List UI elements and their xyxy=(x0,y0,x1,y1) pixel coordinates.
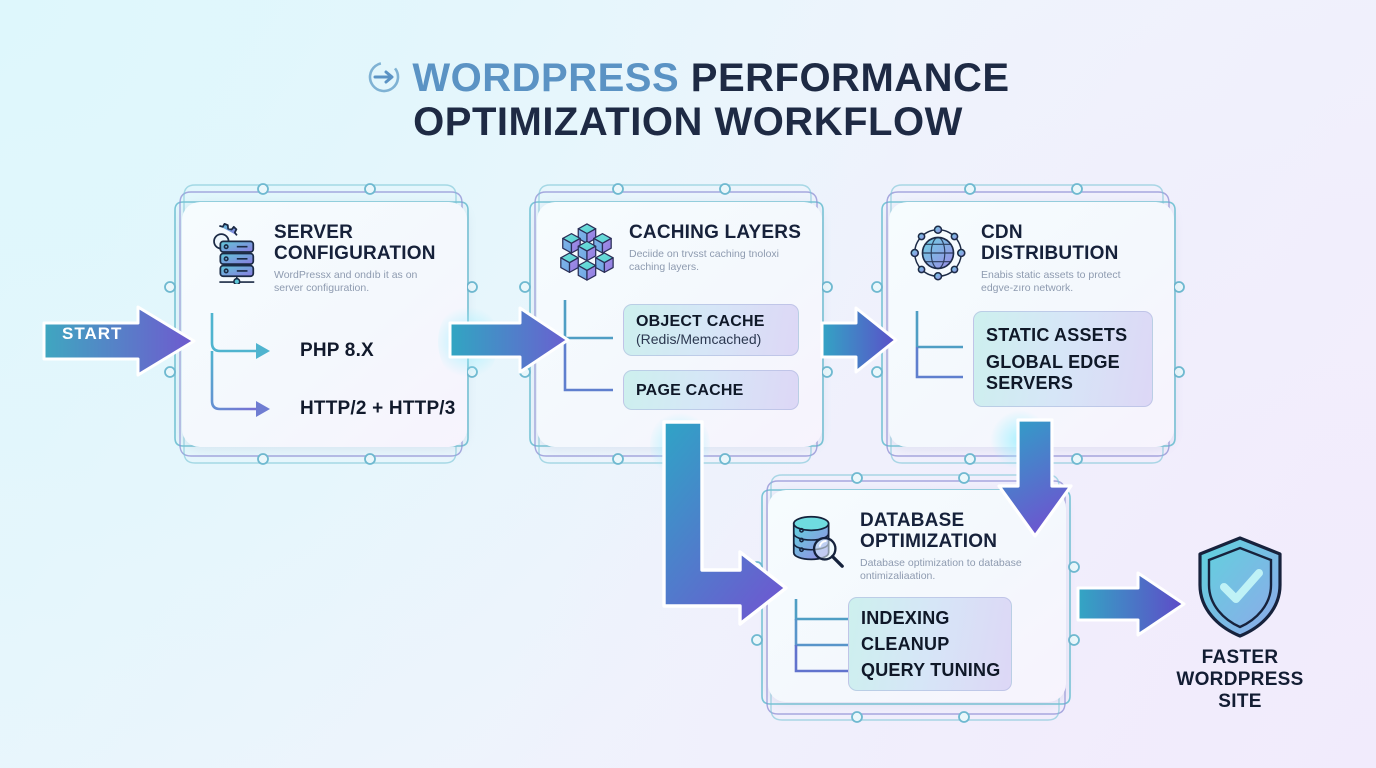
card-cdn-distribution[interactable]: CDN DISTRIBUTION Enabis static assets to… xyxy=(889,202,1174,447)
pill-database-group[interactable]: INDEXING CLEANUP QUERY TUNING xyxy=(848,597,1012,691)
start-label: START xyxy=(62,324,122,344)
card-items: OBJECT CACHE (Redis/Memcached) PAGE CACH… xyxy=(555,298,802,428)
card-subtitle: Database optimization to database ontimi… xyxy=(860,557,1035,583)
circular-arrow-icon xyxy=(366,59,402,95)
title-rest: PERFORMANCE xyxy=(691,56,1010,100)
item-php[interactable]: PHP 8.X xyxy=(300,340,374,362)
outcome-block: FASTER WORDPRESS SITE xyxy=(1155,535,1325,713)
card-items: PHP 8.X HTTP/2 + HTTP/3 xyxy=(200,309,447,439)
pill-static-assets: STATIC ASSETS xyxy=(986,322,1140,348)
card-text: CACHING LAYERS Deciide on trvsst caching… xyxy=(629,220,802,274)
branch-connector xyxy=(200,309,310,434)
pill-title: OBJECT CACHE xyxy=(636,312,786,331)
server-to-caching-arrow xyxy=(448,305,570,375)
pill-global-edge-servers: GLOBAL EDGE SERVERS xyxy=(986,352,1140,394)
card-header: CACHING LAYERS Deciide on trvsst caching… xyxy=(555,220,802,284)
card-caching-layers[interactable]: CACHING LAYERS Deciide on trvsst caching… xyxy=(537,202,822,447)
outcome-label: FASTER WORDPRESS SITE xyxy=(1155,647,1325,713)
pill-page-cache[interactable]: PAGE CACHE xyxy=(623,370,799,410)
pill-indexing: INDEXING xyxy=(861,605,999,631)
title-highlight: WORDPRESS xyxy=(412,56,679,100)
card-subtitle: Deciide on trvsst caching tnoloxi cachin… xyxy=(629,248,802,274)
workflow-diagram: WORDPRESS PERFORMANCE OPTIMIZATION WORKF… xyxy=(0,0,1376,768)
title-line-2: OPTIMIZATION WORKFLOW xyxy=(0,100,1376,144)
pill-cleanup: CLEANUP xyxy=(861,631,999,657)
gear-server-icon xyxy=(200,222,262,284)
card-text: CDN DISTRIBUTION Enabis static assets to… xyxy=(981,220,1154,295)
card-title: CACHING LAYERS xyxy=(629,222,802,243)
pill-title: PAGE CACHE xyxy=(636,381,786,400)
page-title: WORDPRESS PERFORMANCE OPTIMIZATION WORKF… xyxy=(0,56,1376,144)
title-line-1: WORDPRESS PERFORMANCE xyxy=(0,56,1376,100)
database-magnifier-icon xyxy=(786,510,848,572)
caching-to-database-arrow xyxy=(660,420,790,630)
card-subtitle: WordPressx and ondıb it as on server con… xyxy=(274,269,447,295)
card-text: SERVER CONFIGURATION WordPressx and ondı… xyxy=(274,220,447,295)
card-header: SERVER CONFIGURATION WordPressx and ondı… xyxy=(200,220,447,295)
card-subtitle: Enabis static assets to protect edgve-zı… xyxy=(981,269,1154,295)
pill-object-cache[interactable]: OBJECT CACHE (Redis/Memcached) xyxy=(623,304,799,356)
pill-cdn-group[interactable]: STATIC ASSETS GLOBAL EDGE SERVERS xyxy=(973,311,1153,407)
shield-check-icon xyxy=(1155,535,1325,639)
cdn-to-database-arrow xyxy=(995,418,1075,540)
card-server-configuration[interactable]: SERVER CONFIGURATION WordPressx and ondı… xyxy=(182,202,467,447)
card-title: CDN DISTRIBUTION xyxy=(981,222,1154,264)
card-title: SERVER CONFIGURATION xyxy=(274,222,447,264)
caching-to-cdn-arrow xyxy=(820,305,898,375)
globe-network-icon xyxy=(907,222,969,284)
pill-query-tuning: QUERY TUNING xyxy=(861,657,999,683)
pill-subtitle: (Redis/Memcached) xyxy=(636,331,786,348)
stacked-cubes-icon xyxy=(555,222,617,284)
item-http[interactable]: HTTP/2 + HTTP/3 xyxy=(300,398,456,420)
card-items: INDEXING CLEANUP QUERY TUNING xyxy=(786,597,1046,707)
card-header: CDN DISTRIBUTION Enabis static assets to… xyxy=(907,220,1154,295)
